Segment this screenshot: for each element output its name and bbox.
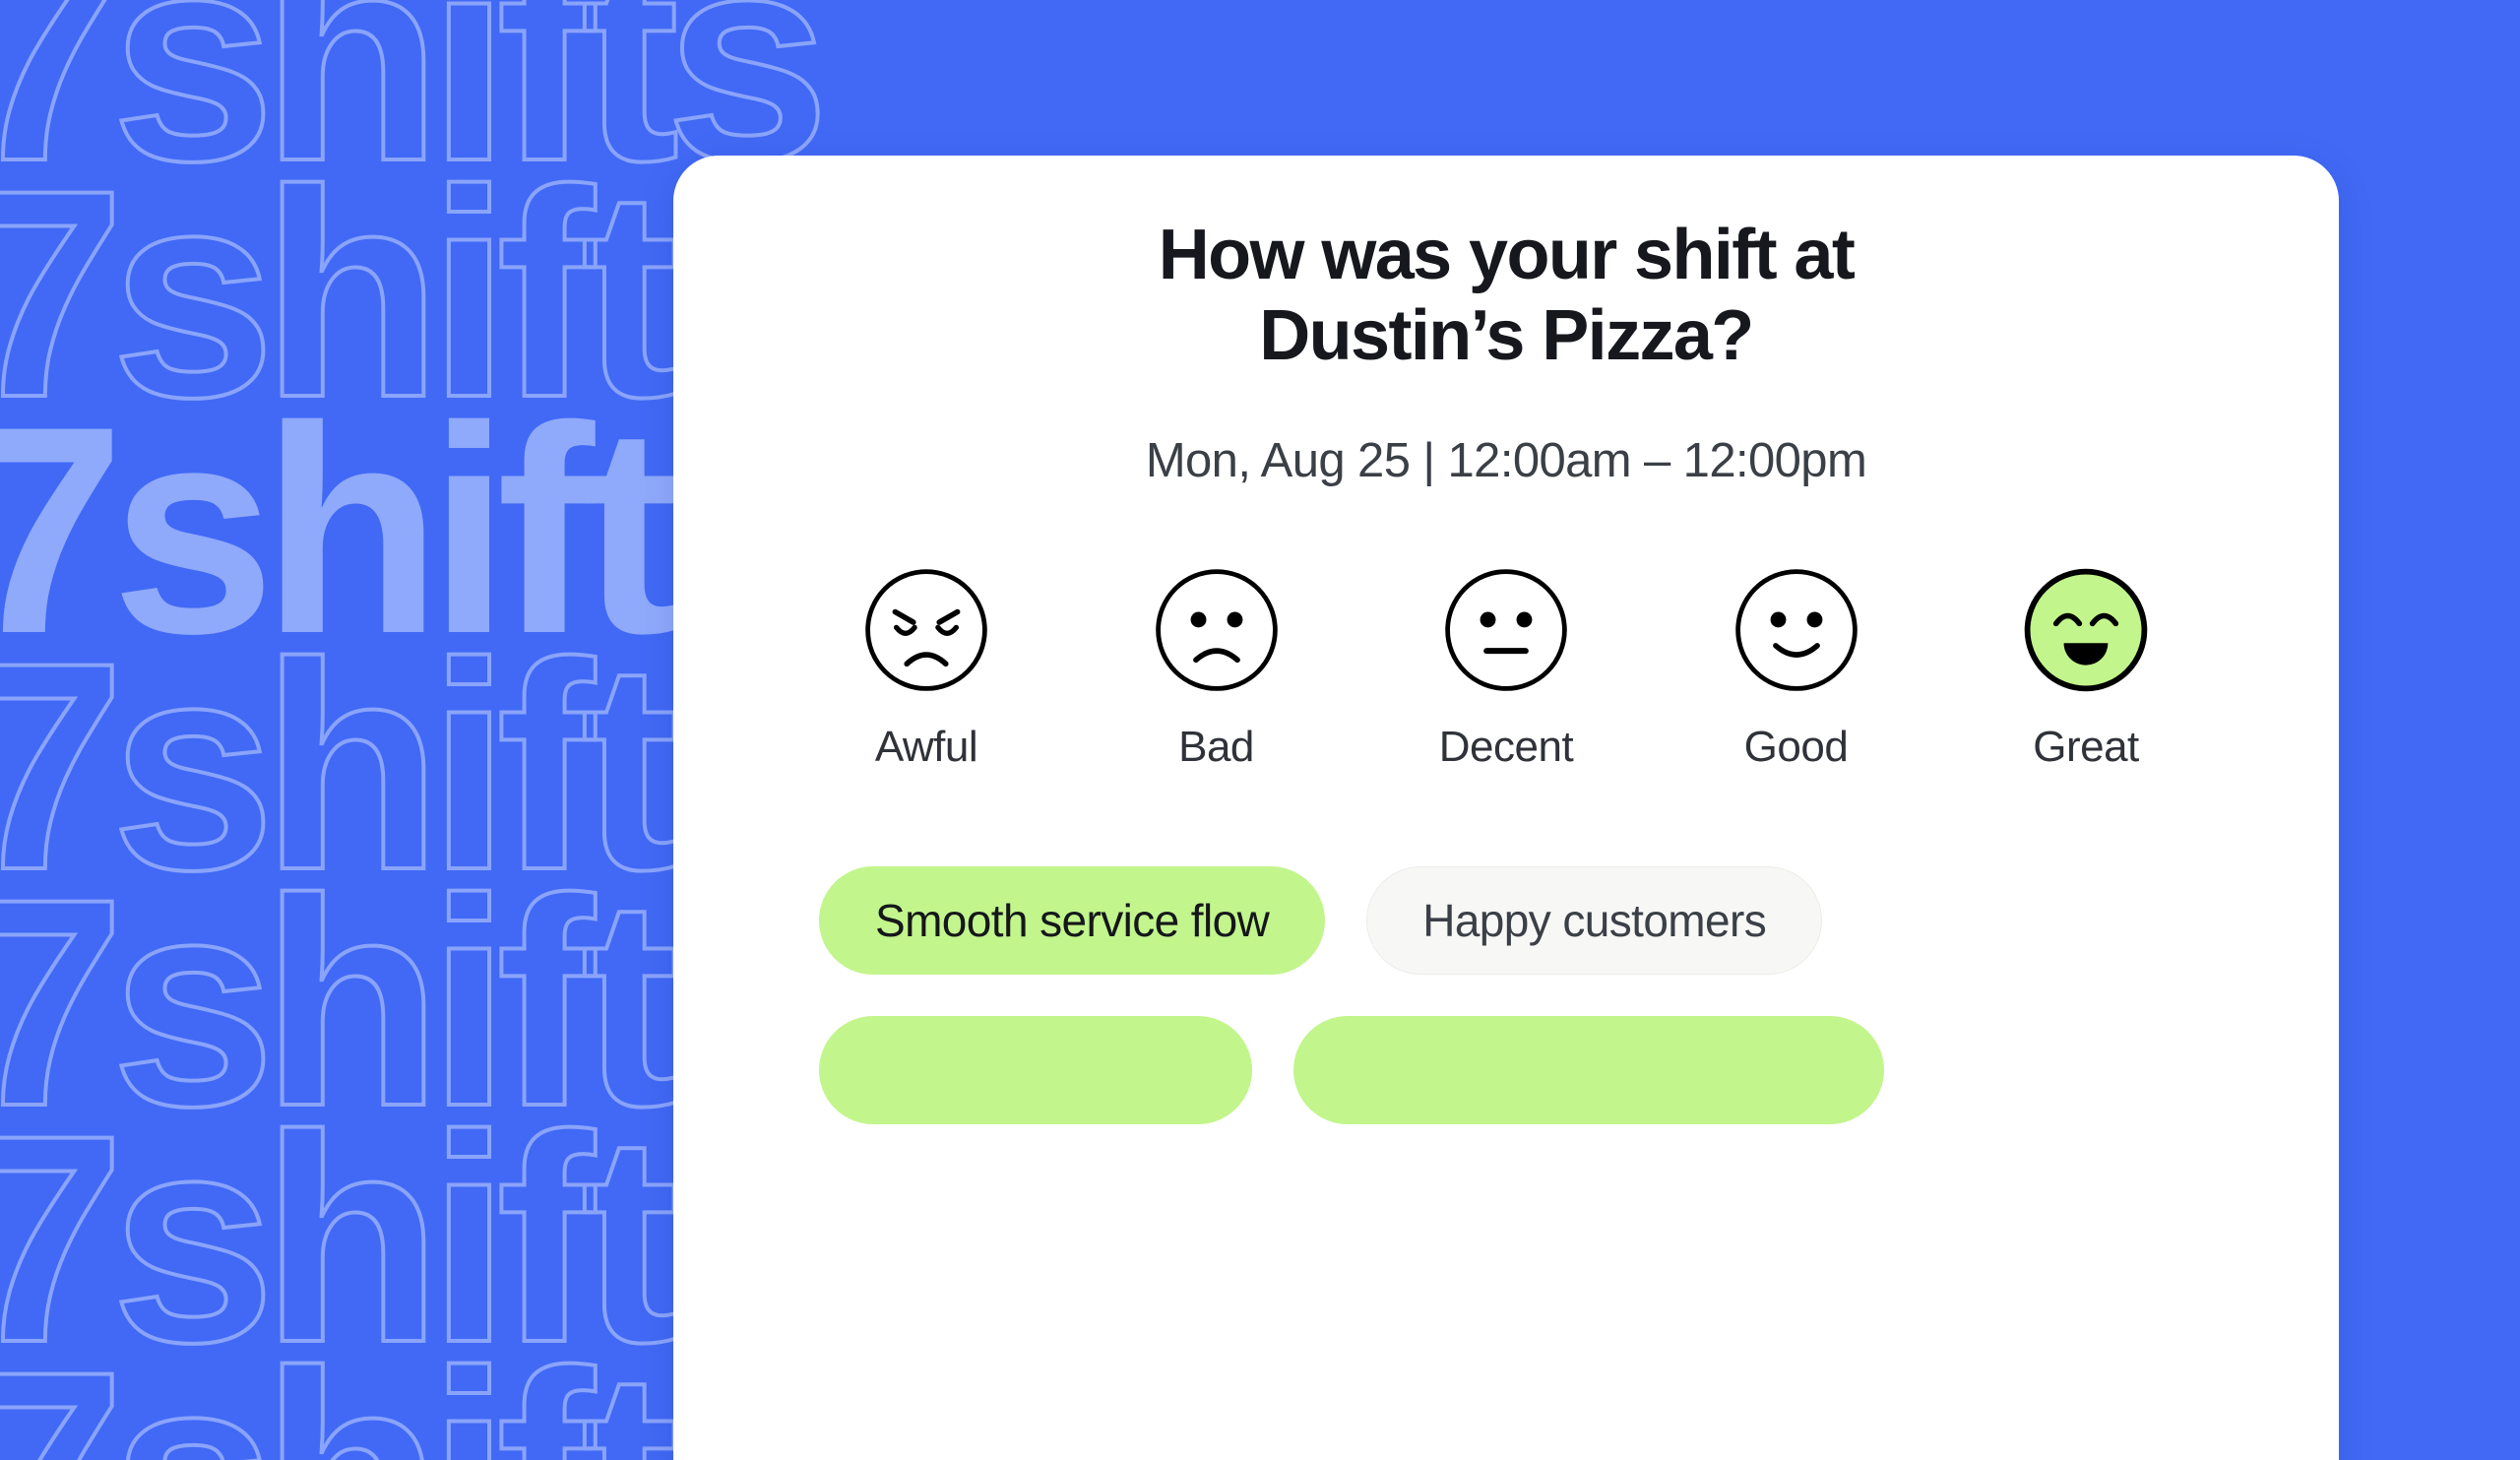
rating-label-decent: Decent: [1439, 723, 1573, 772]
tag-chip-row2-right[interactable]: [1293, 1016, 1884, 1124]
face-neutral-icon: [1441, 565, 1571, 695]
face-smile-icon: [1732, 565, 1861, 695]
rating-label-bad: Bad: [1178, 723, 1254, 772]
rating-option-great[interactable]: Great: [1994, 565, 2177, 772]
shift-feedback-card: How was your shift at Dustin’s Pizza? Mo…: [673, 156, 2339, 1460]
shift-datetime: Mon, Aug 25 | 12:00am – 12:00pm: [1146, 433, 1866, 488]
rating-label-awful: Awful: [875, 723, 977, 772]
tag-chip-group: Smooth service flow Happy customers: [732, 866, 2280, 1124]
page-title-line-2: Dustin’s Pizza?: [891, 295, 2121, 376]
page-title: How was your shift at Dustin’s Pizza?: [891, 215, 2121, 376]
rating-option-good[interactable]: Good: [1705, 565, 1888, 772]
tag-chip-smooth-service-flow[interactable]: Smooth service flow: [819, 866, 1325, 975]
tag-chip-happy-customers[interactable]: Happy customers: [1366, 866, 1822, 975]
rating-label-great: Great: [2033, 723, 2139, 772]
face-angry-icon: [861, 565, 991, 695]
rating-option-decent[interactable]: Decent: [1415, 565, 1598, 772]
rating-option-awful[interactable]: Awful: [835, 565, 1018, 772]
tag-chip-row2-left[interactable]: [819, 1016, 1252, 1124]
rating-option-bad[interactable]: Bad: [1125, 565, 1308, 772]
rating-label-good: Good: [1744, 723, 1849, 772]
page-title-line-1: How was your shift at: [891, 215, 2121, 295]
rating-scale: Awful Bad: [732, 565, 2280, 772]
face-frown-icon: [1152, 565, 1282, 695]
face-grin-icon: [2021, 565, 2151, 695]
